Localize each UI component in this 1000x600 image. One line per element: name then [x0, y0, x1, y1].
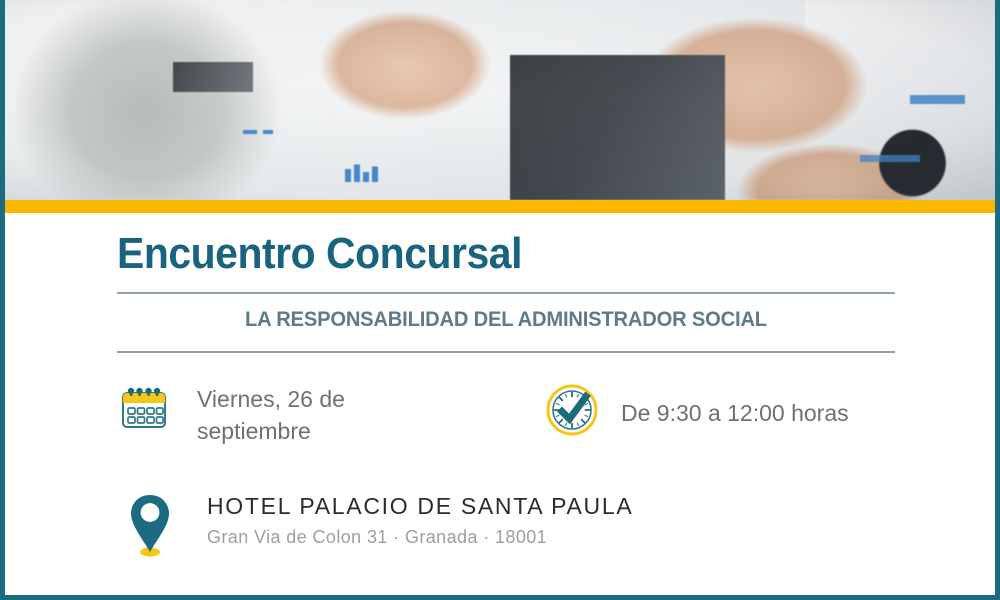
event-location-row: HOTEL PALACIO DE SANTA PAULA Gran Via de…: [125, 491, 633, 564]
map-pin-icon: [125, 491, 175, 564]
event-time-row: De 9:30 a 12:00 horas: [545, 383, 849, 442]
banner-photo-vignette: [5, 0, 995, 200]
event-location-text: HOTEL PALACIO DE SANTA PAULA Gran Via de…: [207, 493, 633, 548]
event-date-text: Viernes, 26 de septiembre: [197, 383, 427, 447]
venue-name: HOTEL PALACIO DE SANTA PAULA: [207, 493, 633, 520]
event-date-row: Viernes, 26 de septiembre: [117, 381, 427, 447]
banner-photo: [5, 0, 995, 200]
clock-check-icon: [545, 383, 599, 442]
calendar-icon: [117, 381, 171, 440]
venue-address: Gran Via de Colon 31 · Granada · 18001: [207, 527, 633, 548]
divider-top: [117, 292, 895, 294]
event-title: Encuentro Concursal: [117, 229, 522, 279]
event-subtitle: LA RESPONSABILIDAD DEL ADMINISTRADOR SOC…: [133, 308, 880, 332]
divider-bottom: [117, 351, 895, 353]
poster-content: Encuentro Concursal LA RESPONSABILIDAD D…: [5, 213, 995, 595]
event-time-text: De 9:30 a 12:00 horas: [621, 397, 849, 429]
event-poster: Encuentro Concursal LA RESPONSABILIDAD D…: [0, 0, 1000, 600]
yellow-accent-band: [5, 200, 995, 213]
